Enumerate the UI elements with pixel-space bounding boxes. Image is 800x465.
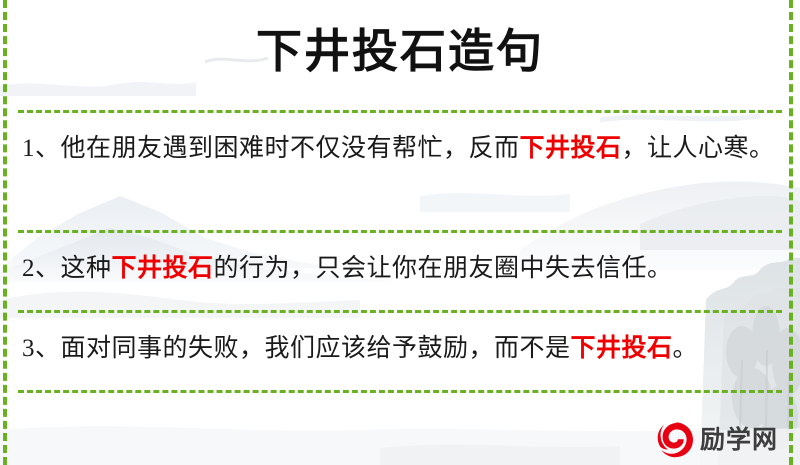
sentence-text-1a: 他在朋友遇到困难时不仅没有帮忙，反而	[61, 135, 520, 162]
idiom-highlight-1: 下井投石	[520, 135, 622, 162]
sentence-item-1: 1、他在朋友遇到困难时不仅没有帮忙，反而下井投石，让人心寒。	[22, 128, 778, 170]
separator-line-2	[18, 230, 782, 233]
sentence-text-3a: 面对同事的失败，我们应该给予鼓励，而不是	[61, 335, 571, 362]
sentence-text-3b: 。	[673, 335, 699, 362]
separator-line-4	[18, 390, 782, 393]
idiom-highlight-3: 下井投石	[571, 335, 673, 362]
sentence-number-2: 2、	[22, 255, 61, 282]
sentence-number-3: 3、	[22, 335, 61, 362]
swirl-flame-icon	[655, 420, 695, 460]
separator-line-1	[18, 110, 782, 113]
site-watermark-label: 励学网	[700, 420, 778, 460]
sentence-number-1: 1、	[22, 135, 61, 162]
page-title: 下井投石造句	[0, 22, 800, 80]
sentence-text-2a: 这种	[61, 255, 112, 282]
frame-border-left	[3, 0, 7, 465]
frame-border-right	[789, 0, 793, 465]
idiom-highlight-2: 下井投石	[112, 255, 214, 282]
site-watermark-logo: 励学网	[655, 418, 795, 462]
slide-canvas: 下井投石造句 1、他在朋友遇到困难时不仅没有帮忙，反而下井投石，让人心寒。 2、…	[0, 0, 800, 465]
sentence-text-1b: ，让人心寒。	[622, 135, 775, 162]
sentence-item-2: 2、这种下井投石的行为，只会让你在朋友圈中失去信任。	[22, 248, 778, 290]
sentence-item-3: 3、面对同事的失败，我们应该给予鼓励，而不是下井投石。	[22, 328, 778, 370]
separator-line-3	[18, 310, 782, 313]
sentence-text-2b: 的行为，只会让你在朋友圈中失去信任。	[214, 255, 673, 282]
